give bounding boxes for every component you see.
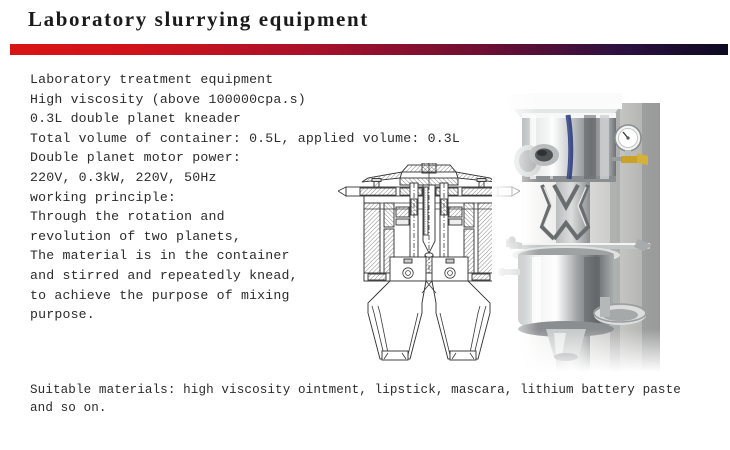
spec-line: 0.3L double planet kneader xyxy=(30,109,450,129)
title-bar: Laboratory slurrying equipment xyxy=(0,0,730,38)
photo-top-fade xyxy=(492,57,664,91)
photo-bottom-fade xyxy=(492,329,664,372)
drawing-right-mixer-blade xyxy=(432,281,490,360)
slide-page: Laboratory slurrying equipment Laborator… xyxy=(0,0,730,450)
product-photo-planetary-mixer xyxy=(492,57,664,372)
accent-gradient-rule xyxy=(10,44,728,55)
drawing-top-cap xyxy=(362,163,496,185)
spec-line: High viscosity (above 100000cpa.s) xyxy=(30,90,450,110)
note-line: and so on. xyxy=(30,399,710,417)
spec-line: Laboratory treatment equipment xyxy=(30,70,450,90)
page-title: Laboratory slurrying equipment xyxy=(28,7,369,32)
drawing-gearbox-housing xyxy=(364,183,494,281)
spec-line: Total volume of container: 0.5L, applied… xyxy=(30,129,450,149)
photo-left-fade xyxy=(492,57,538,372)
suitable-materials-note: Suitable materials: high viscosity ointm… xyxy=(30,381,710,417)
note-line: Suitable materials: high viscosity ointm… xyxy=(30,381,710,399)
drawing-left-mixer-blade xyxy=(368,281,426,360)
